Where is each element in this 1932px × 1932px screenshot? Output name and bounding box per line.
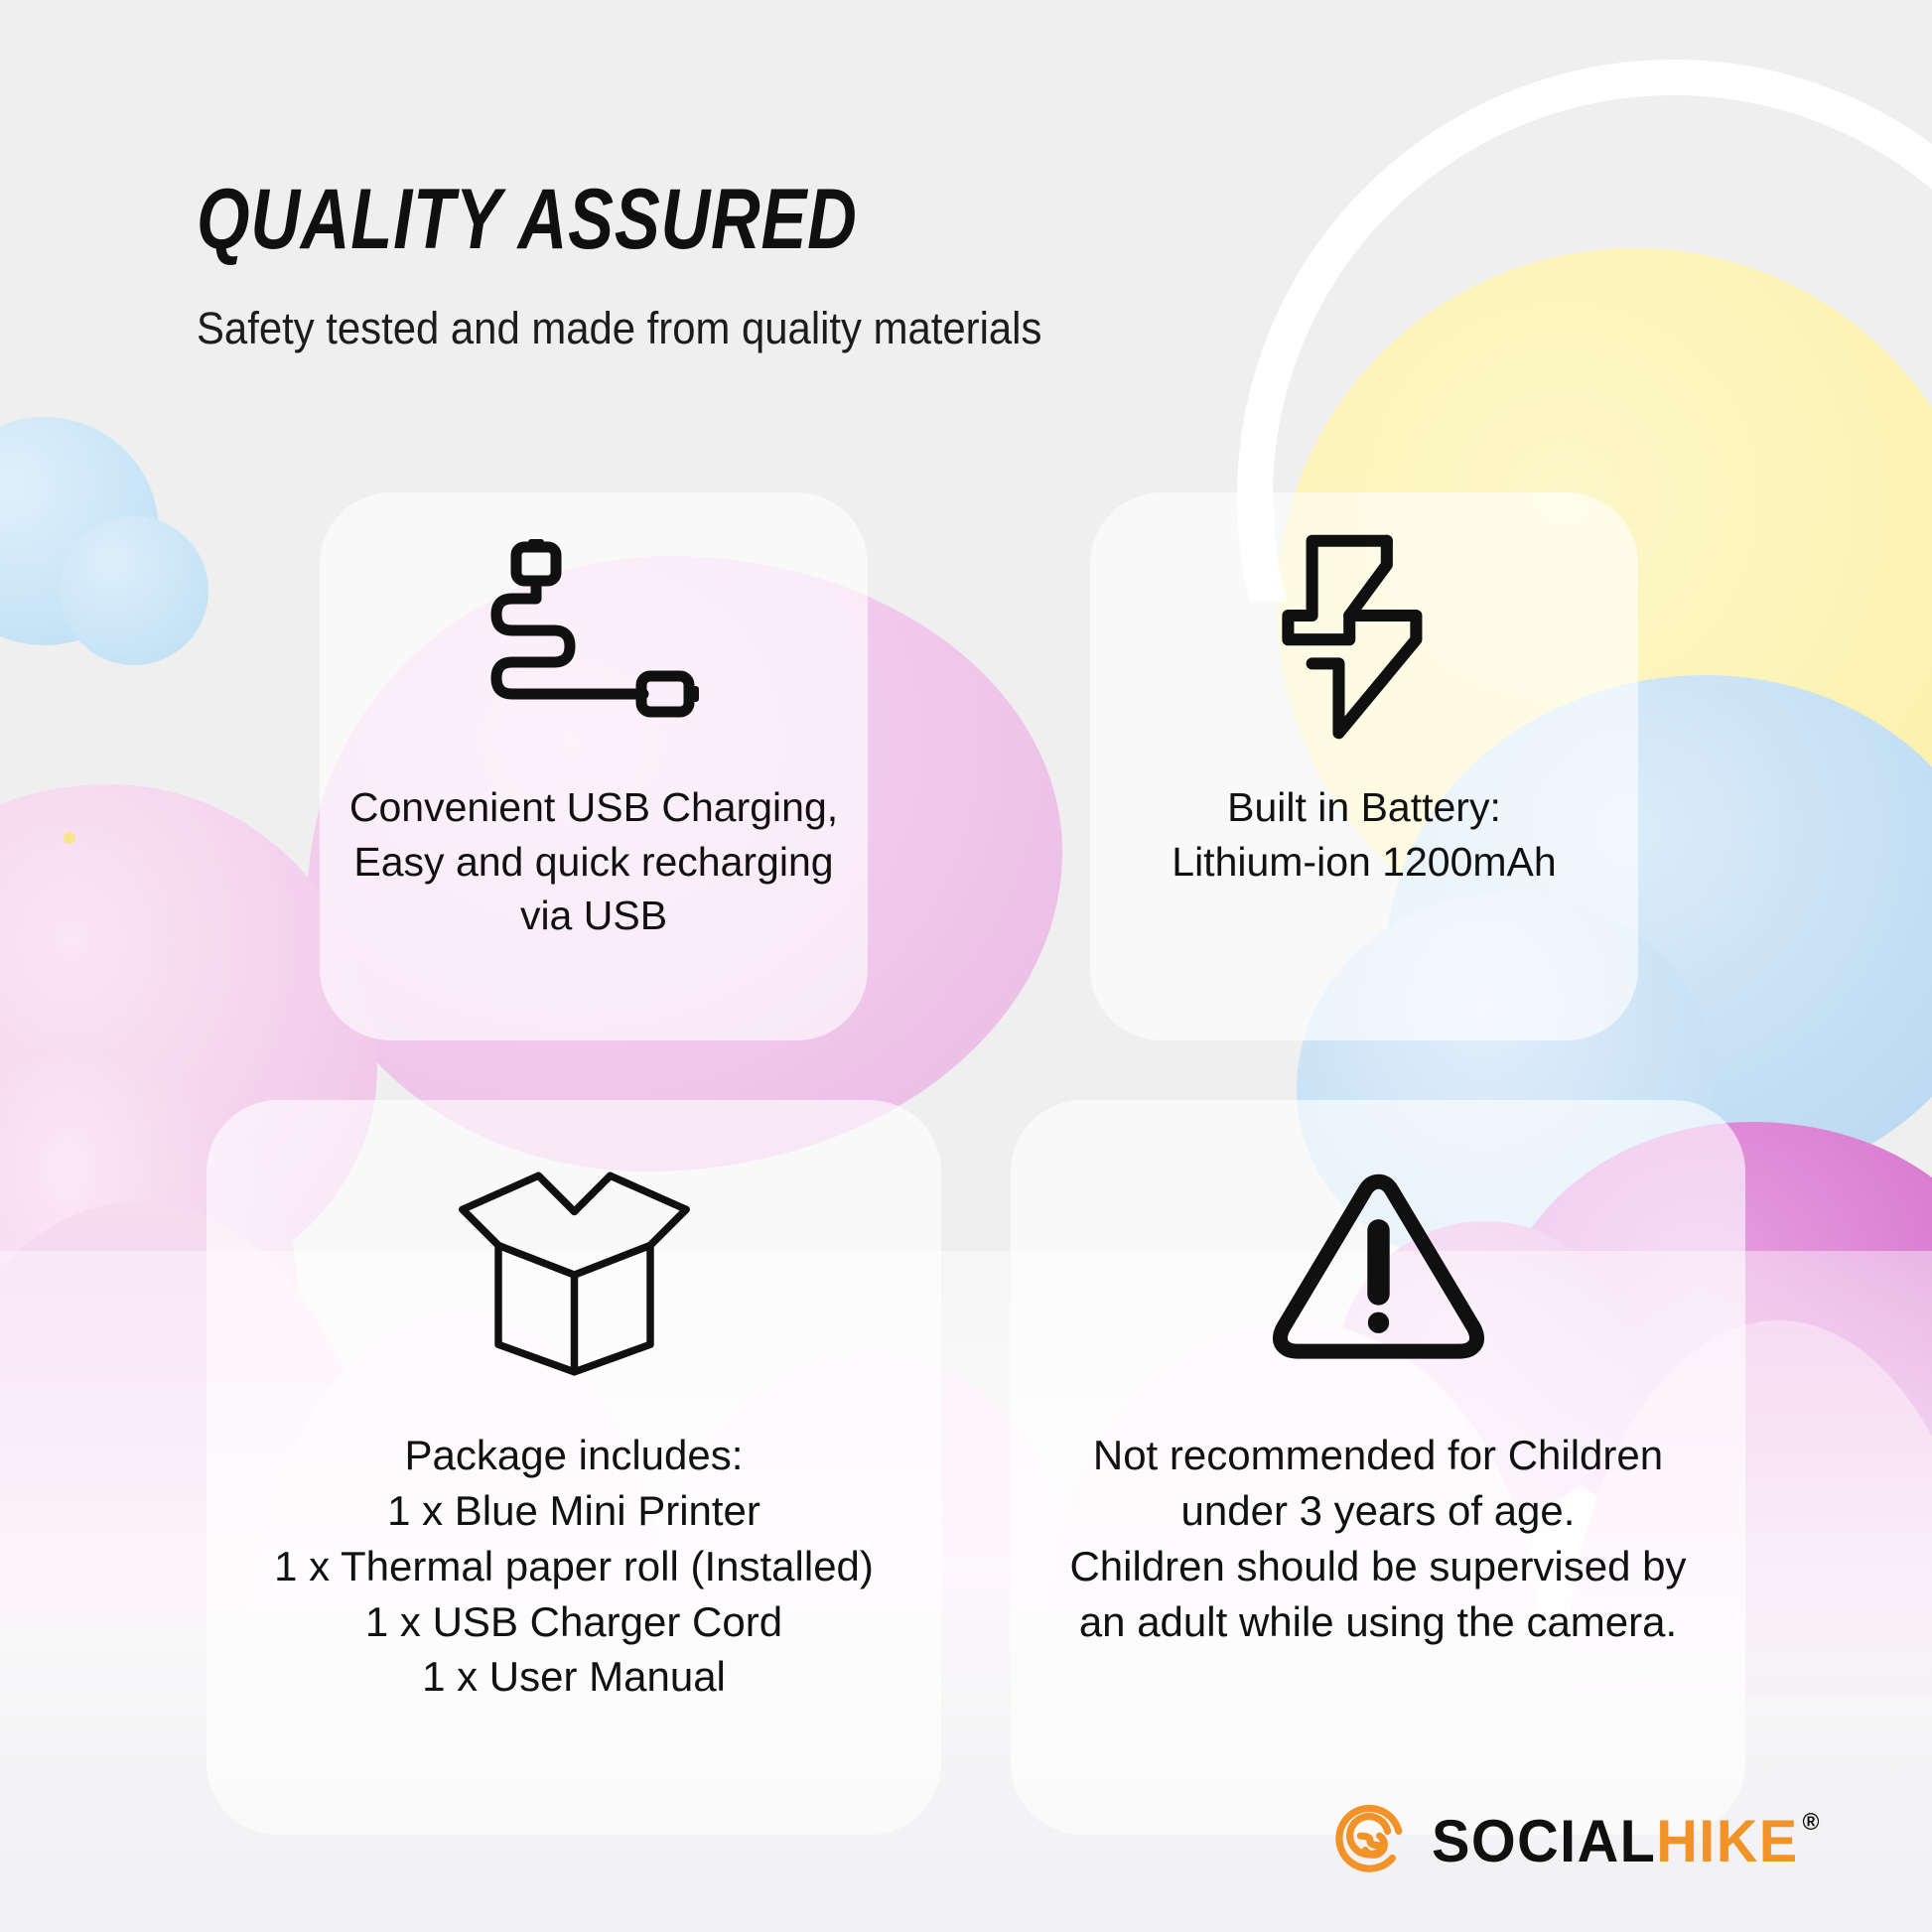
content-layer: QUALITY ASSURED Safety tested and made f… [0,0,1932,1932]
logo-text-social: SOCIAL [1432,1807,1656,1875]
usb-cable-icon [484,492,703,780]
feature-card-text: Convenient USB Charging, Easy and quick … [340,780,848,943]
warning-triangle-icon [1262,1100,1495,1428]
feature-card-text: Built in Battery: Lithium-ion 1200mAh [1162,780,1566,889]
feature-card-text: Package includes: 1 x Blue Mini Printer … [264,1428,884,1705]
logo-text-hike: HIKE [1656,1807,1798,1875]
feature-card-warning: Not recommended for Children under 3 yea… [1011,1100,1745,1835]
feature-card-battery: Built in Battery: Lithium-ion 1200mAh [1090,492,1638,1040]
registered-trademark-icon: ® [1802,1809,1820,1837]
lightning-bolt-icon [1270,492,1458,780]
feature-card-text: Not recommended for Children under 3 yea… [1059,1428,1696,1649]
socialhike-spiral-icon [1330,1801,1410,1880]
feature-card-grid: Convenient USB Charging, Easy and quick … [0,0,1932,1932]
feature-card-package: Package includes: 1 x Blue Mini Printer … [207,1100,941,1835]
brand-logo: SOCIAL HIKE ® [1330,1801,1837,1880]
infographic-canvas: QUALITY ASSURED Safety tested and made f… [0,0,1932,1932]
open-box-icon [448,1100,701,1428]
feature-card-usb-charging: Convenient USB Charging, Easy and quick … [320,492,868,1040]
logo-wordmark: SOCIAL HIKE ® [1432,1807,1821,1875]
